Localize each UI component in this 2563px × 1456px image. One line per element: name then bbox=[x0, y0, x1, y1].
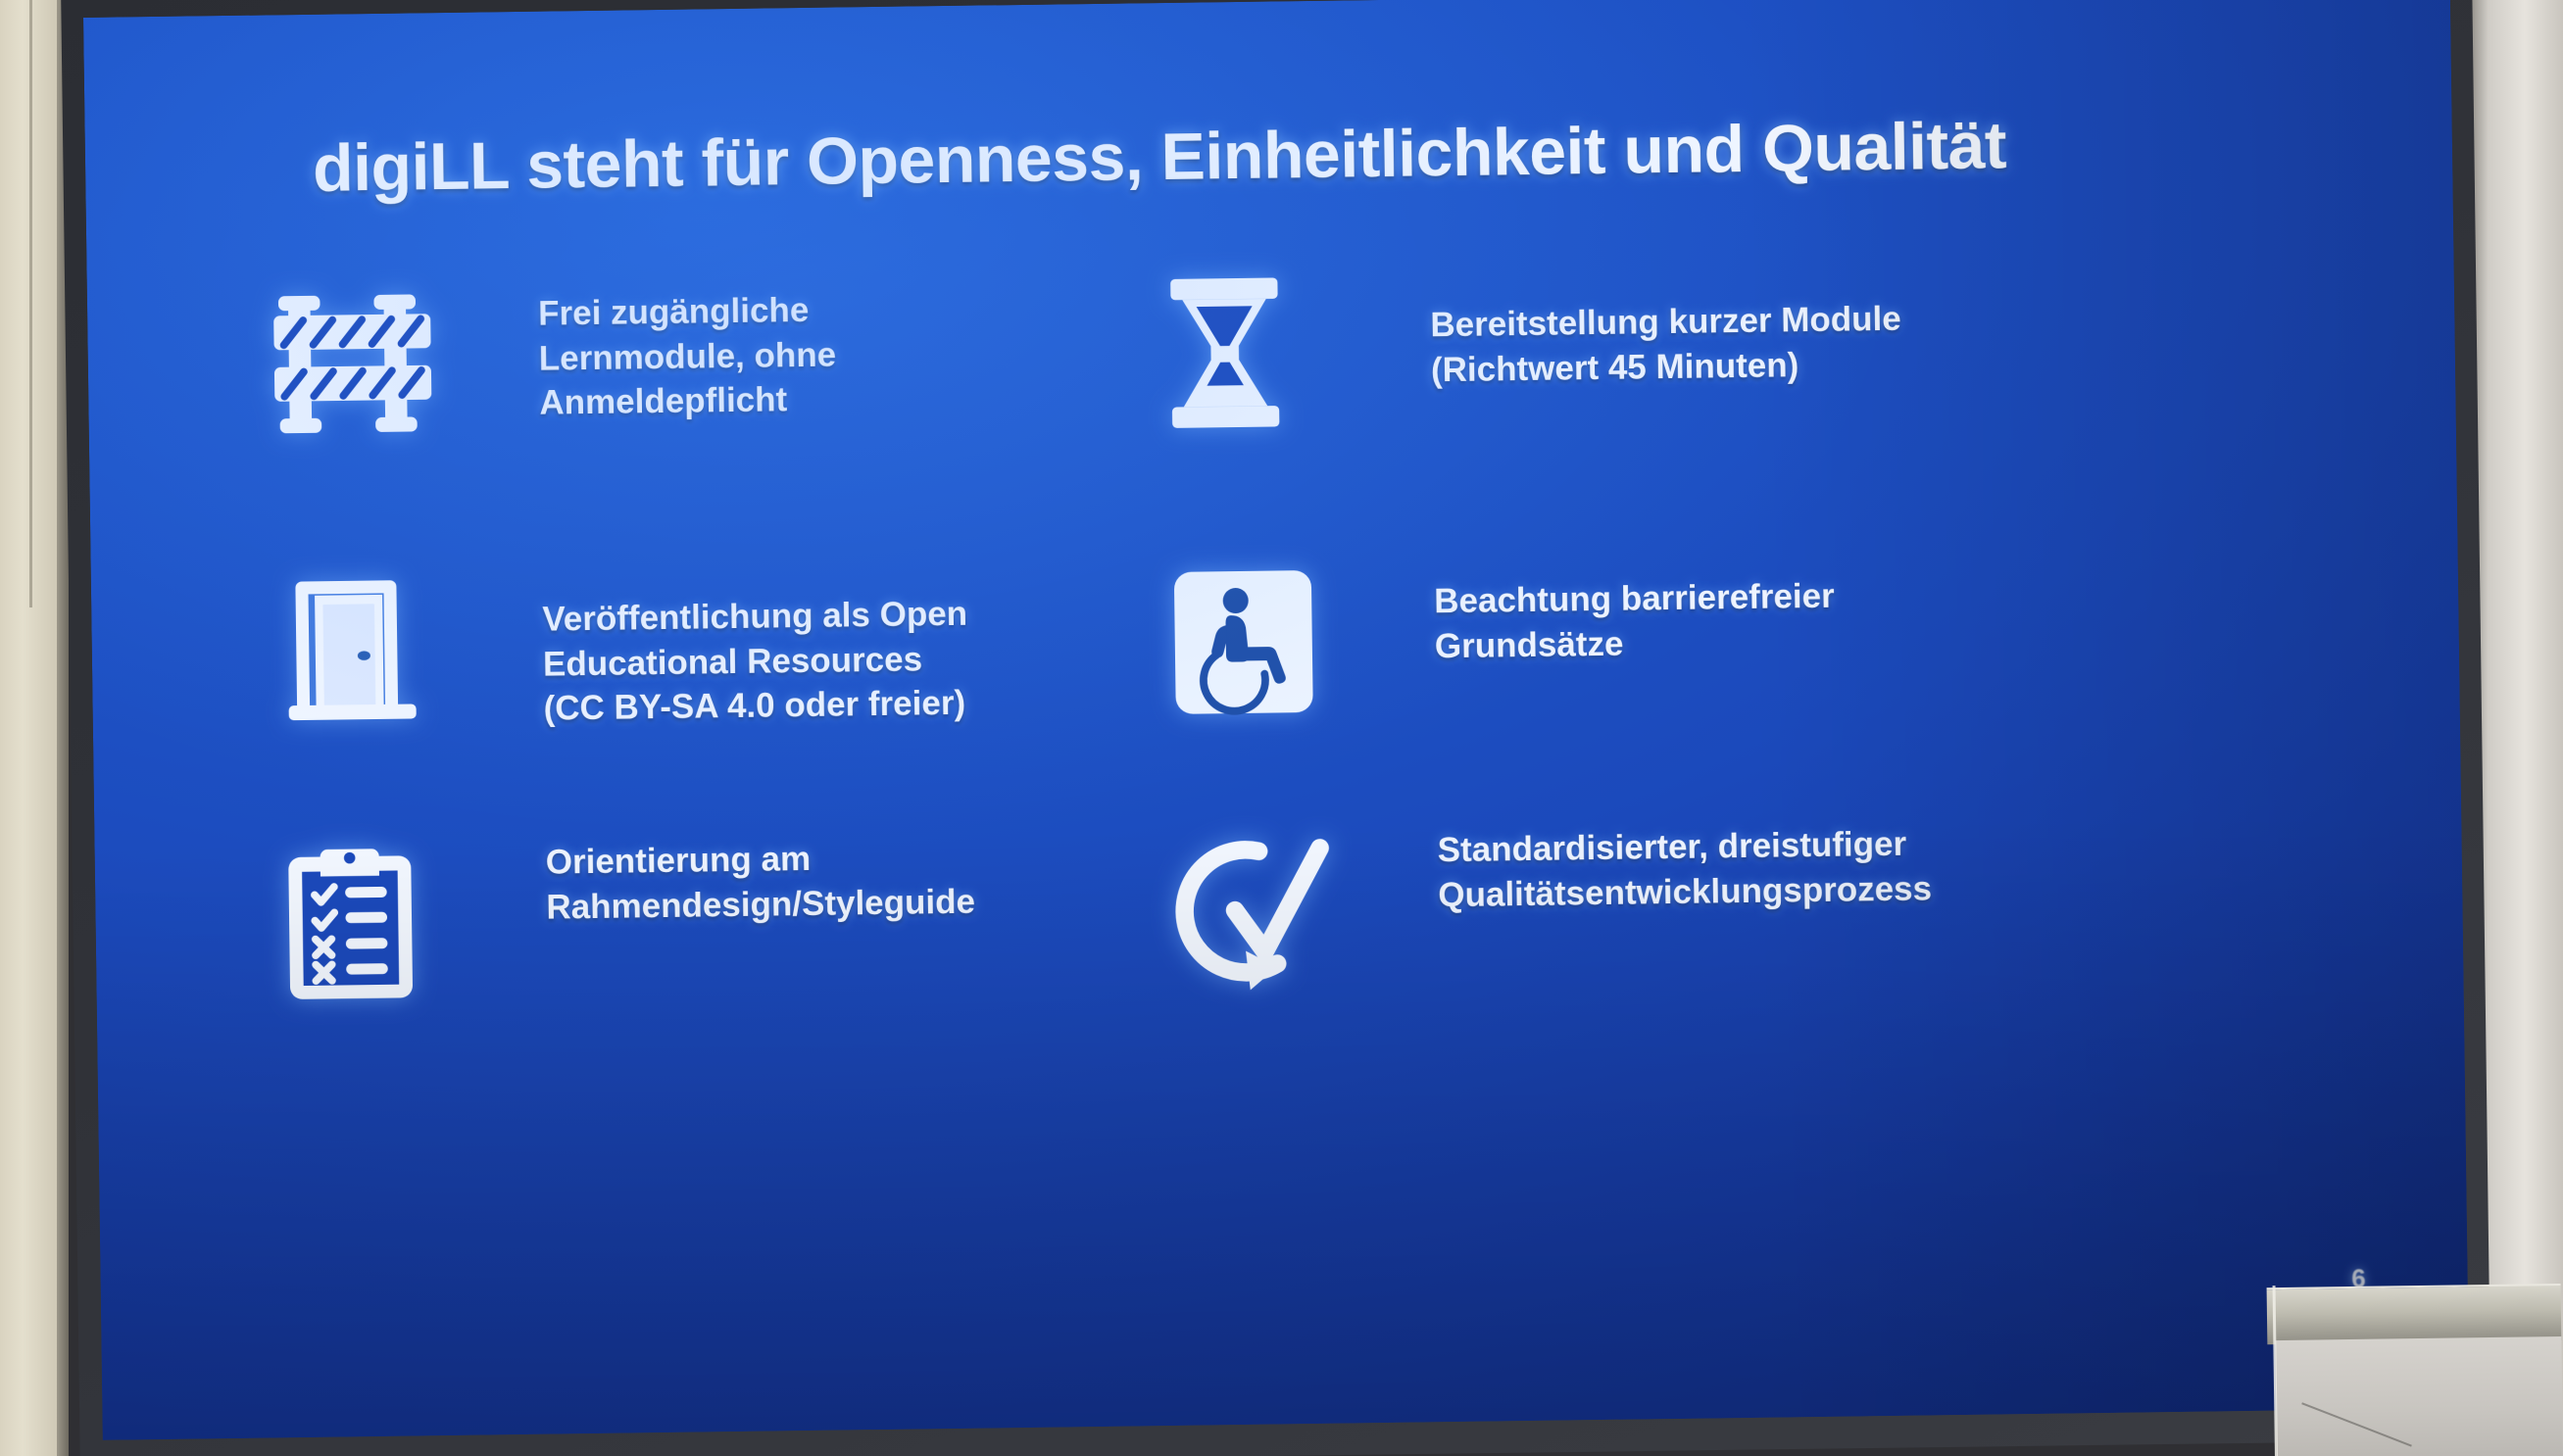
list-item-icon-cell bbox=[1168, 540, 1435, 724]
list-item-icon-cell bbox=[273, 286, 540, 444]
flipchart-board bbox=[2266, 1270, 2563, 1456]
list-item-line: (Richtwert 45 Minuten) bbox=[1431, 339, 2059, 392]
slide-content-grid: Frei zugängliche Lernmodule, ohne Anmeld… bbox=[273, 262, 2347, 1090]
list-item-icon-cell bbox=[1172, 806, 1440, 999]
list-item-icon-cell bbox=[280, 819, 548, 1010]
list-item-text: Veröffentlichung als Open Educational Re… bbox=[541, 544, 1170, 731]
presentation-room-photo: digiLL steht für Openness, Einheitlichke… bbox=[0, 0, 2563, 1456]
flipchart-paper bbox=[2275, 1336, 2563, 1456]
hourglass-icon bbox=[1165, 277, 1285, 433]
list-item-line: Rahmendesign/Styleguide bbox=[546, 876, 1174, 929]
quality-cycle-check-icon bbox=[1172, 836, 1336, 999]
list-item-text: Frei zugängliche Lernmodule, ohne Anmeld… bbox=[538, 277, 1167, 425]
slide-title: digiLL steht für Openness, Einheitlichke… bbox=[313, 103, 2336, 207]
wall-left-strip bbox=[0, 0, 57, 1456]
list-item-text: Standardisierter, dreistufiger Qualitäts… bbox=[1437, 799, 2065, 918]
list-item-text: Orientierung am Rahmendesign/Styleguide bbox=[545, 810, 1173, 930]
list-item-icon-cell bbox=[276, 553, 543, 731]
list-item-text: Bereitstellung kurzer Module (Richtwert … bbox=[1430, 266, 2059, 393]
list-item-text: Beachtung barrierefreier Grundsätze bbox=[1433, 532, 2062, 669]
barrier-icon bbox=[273, 289, 432, 443]
list-item-line: Anmeldepflicht bbox=[539, 372, 1167, 425]
list-item-icon-cell bbox=[1165, 273, 1432, 433]
clipboard-checklist-icon bbox=[280, 838, 419, 1009]
list-item-line: Grundsätze bbox=[1435, 615, 2063, 668]
flipchart-rail bbox=[2267, 1284, 2562, 1344]
list-item-line: Qualitätsentwicklungsprozess bbox=[1438, 864, 2066, 917]
wheelchair-accessibility-icon bbox=[1169, 565, 1318, 724]
list-item-line: (CC BY-SA 4.0 oder freier) bbox=[543, 678, 1171, 731]
projected-slide: digiLL steht für Openness, Einheitlichke… bbox=[83, 0, 2470, 1440]
open-door-icon bbox=[277, 571, 426, 730]
wall-seam-line bbox=[29, 0, 32, 607]
slide-background: digiLL steht für Openness, Einheitlichke… bbox=[83, 0, 2470, 1440]
flipchart-crease bbox=[2301, 1402, 2412, 1446]
